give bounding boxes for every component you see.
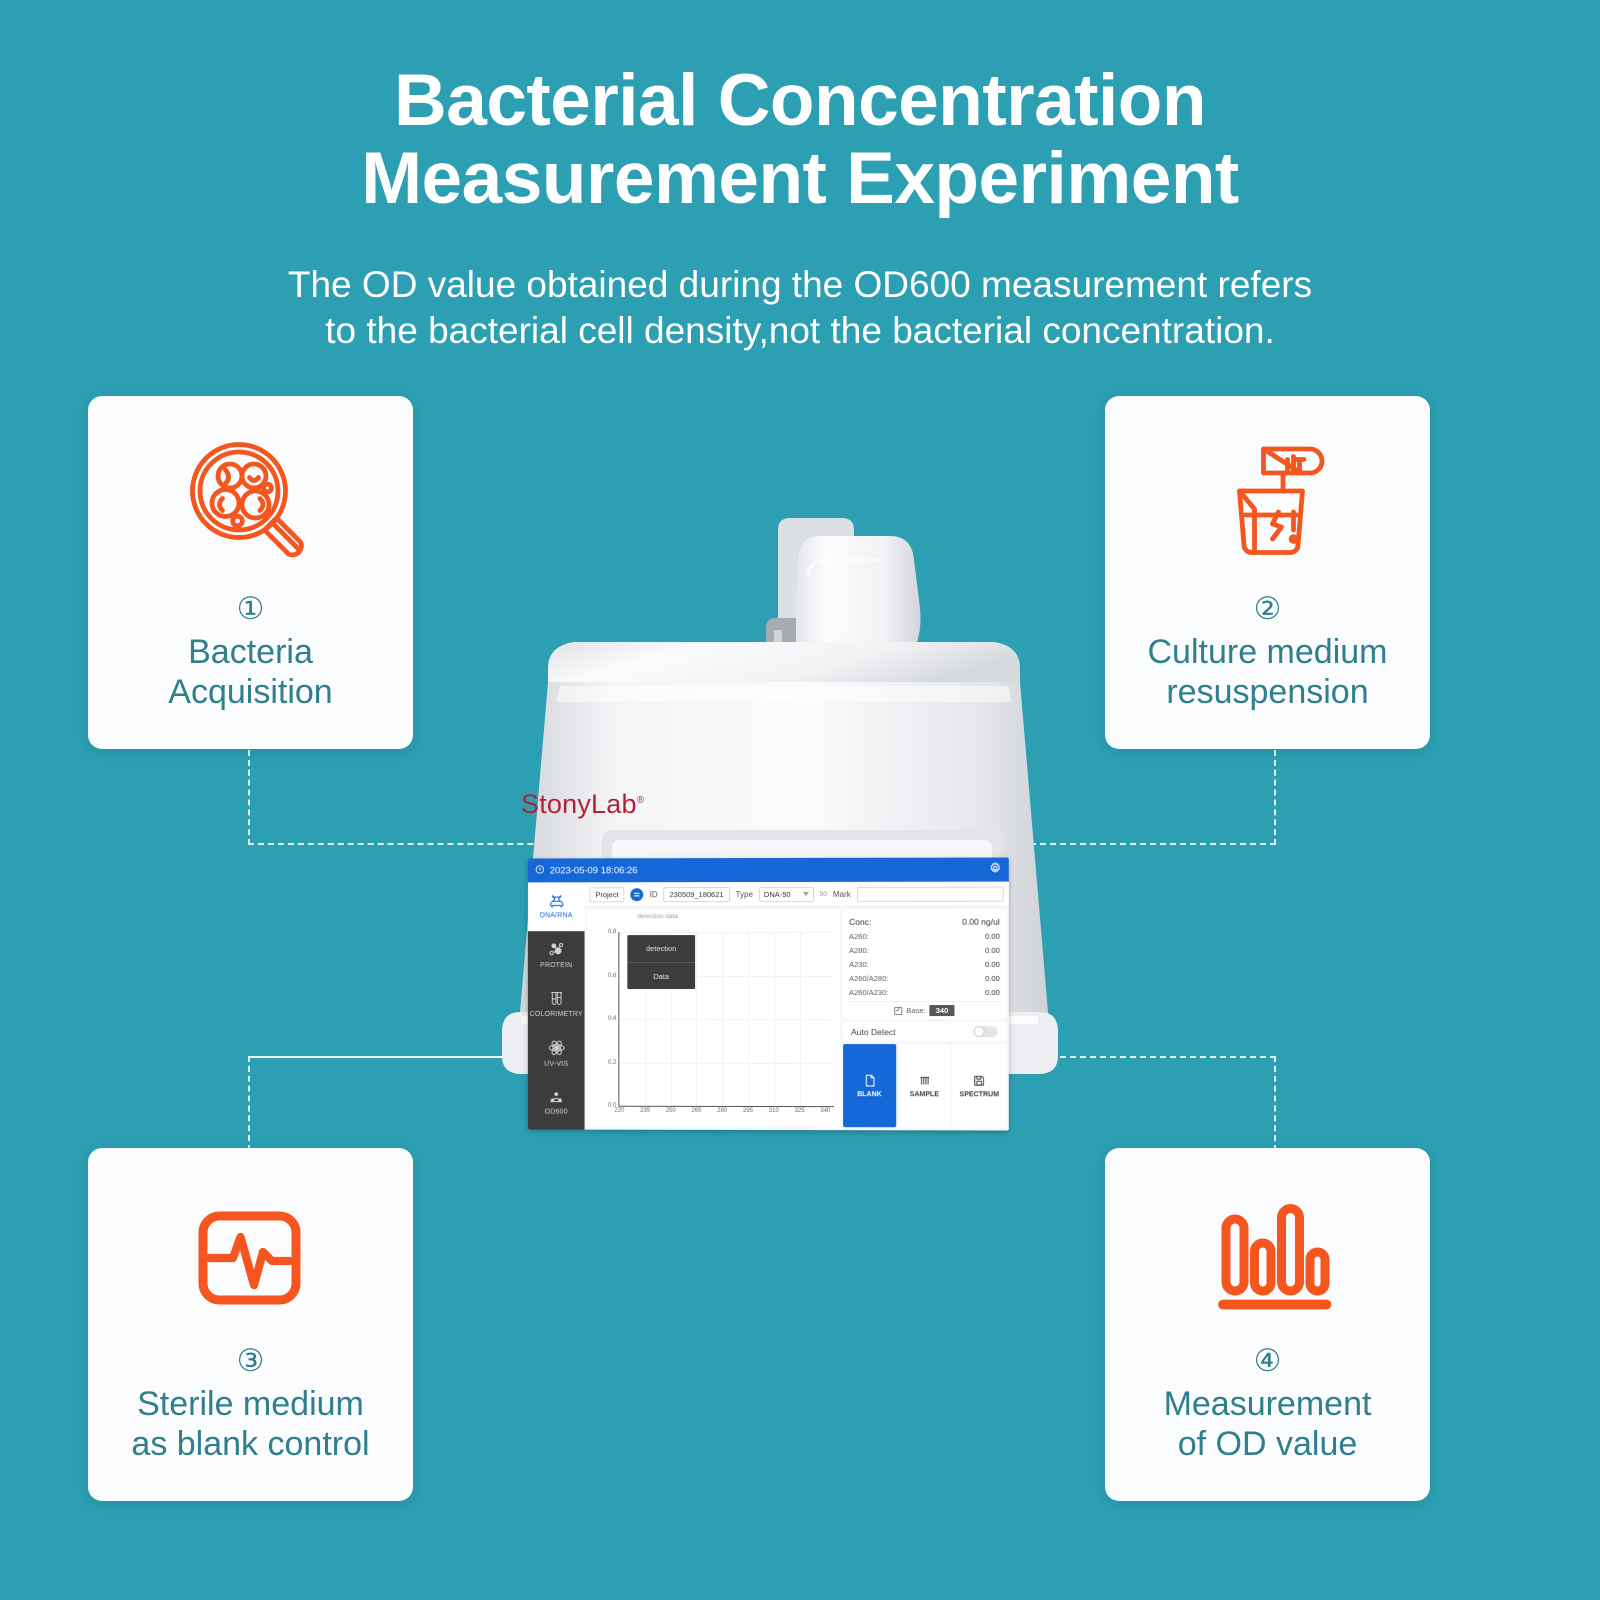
type-factor: 50 <box>820 890 827 897</box>
tab-data[interactable]: Data <box>627 962 695 989</box>
auto-detect-row[interactable]: Auto Detect <box>843 1022 1006 1041</box>
atom-icon <box>547 1039 565 1059</box>
screen-content: Project ID 230509_180621 Type DNA-50 50 … <box>585 882 1009 1131</box>
mark-input[interactable] <box>857 886 1004 901</box>
id-value-field[interactable]: 230509_180621 <box>664 887 730 902</box>
auto-detect-label: Auto Detect <box>851 1027 896 1037</box>
action-buttons[interactable]: BLANK SAMPLE <box>843 1044 1006 1127</box>
gear-icon[interactable] <box>989 862 1002 878</box>
result-label: A260/A280: <box>849 973 888 982</box>
step-label: Culture medium resuspension <box>1140 632 1396 712</box>
x-axis-tick: 280 <box>717 1108 727 1114</box>
y-axis-tick: 0.2 <box>608 1059 616 1065</box>
page-subtitle-line1: The OD value obtained during the OD600 m… <box>180 262 1420 308</box>
result-row: A280: 0.00 <box>849 943 1000 957</box>
screen-right-panel: Conc: 0.00 ng/ul A260: 0.00 A280: 0.00 <box>842 907 1009 1131</box>
molecule-icon <box>547 942 565 960</box>
screen-body: DNA/RNA PROTEIN <box>528 882 1009 1131</box>
grid-line <box>800 932 801 1106</box>
spectrum-chart[interactable]: detection data 0.8 0. <box>588 910 841 1127</box>
grid-line <box>722 932 723 1106</box>
grid-line <box>696 932 697 1106</box>
action-label: SPECTRUM <box>960 1091 1000 1098</box>
chart-tab-menu[interactable]: detection Data <box>627 935 695 989</box>
step-number: ② <box>1254 592 1282 626</box>
mark-label: Mark <box>833 889 851 898</box>
id-label: ID <box>650 890 658 899</box>
x-axis-tick: 265 <box>691 1108 701 1114</box>
result-label: Conc: <box>849 916 871 926</box>
cuvette-icon <box>918 1074 931 1089</box>
blank-button[interactable]: BLANK <box>843 1044 896 1127</box>
pipette-pouring-beaker-icon <box>1193 422 1343 590</box>
step-label: Bacteria Acquisition <box>160 632 340 712</box>
step-card-culture-medium-resuspension[interactable]: ② Culture medium resuspension <box>1105 396 1430 749</box>
step-card-bacteria-acquisition[interactable]: ① Bacteria Acquisition <box>88 396 413 749</box>
save-disk-icon <box>973 1074 986 1089</box>
sidebar-item-label: OD600 <box>545 1108 568 1115</box>
results-panel: Conc: 0.00 ng/ul A260: 0.00 A280: 0.00 <box>843 910 1006 1019</box>
result-label: A260/A230: <box>849 987 888 996</box>
result-label: A280: <box>849 945 869 954</box>
result-row: A260/A280: 0.00 <box>849 971 1000 985</box>
step-label-line1: Measurement <box>1164 1384 1372 1424</box>
action-label: BLANK <box>857 1091 882 1098</box>
sidebar-item-dna-rna[interactable]: DNA/RNA <box>528 882 585 931</box>
result-value: 0.00 <box>985 973 1000 982</box>
result-value: 0.00 <box>985 987 1000 996</box>
tab-detection[interactable]: detection <box>627 935 695 962</box>
x-axis-tick: 310 <box>769 1108 779 1114</box>
sidebar-item-label: COLORIMETRY <box>530 1011 583 1018</box>
result-label: A230: <box>849 959 869 968</box>
page-title: Bacterial Concentration Measurement Expe… <box>0 62 1600 218</box>
x-axis-tick: 250 <box>666 1108 676 1114</box>
baseline-checkbox[interactable]: ✓ <box>894 1007 902 1015</box>
chevron-down-icon <box>803 892 809 896</box>
x-axis-tick: 325 <box>795 1108 805 1114</box>
result-value: 0.00 <box>985 945 1000 954</box>
sidebar-item-protein[interactable]: PROTEIN <box>528 931 585 980</box>
brand-logo-text: StonyLab <box>521 789 637 819</box>
grid-line <box>619 1062 834 1063</box>
step-label: Sterile medium as blank control <box>123 1384 377 1464</box>
connector-card1-vertical <box>248 750 250 845</box>
result-value: 0.00 <box>985 959 1000 968</box>
result-row: A230: 0.00 <box>849 957 1000 971</box>
document-icon <box>863 1074 876 1089</box>
screen-sidebar[interactable]: DNA/RNA PROTEIN <box>528 882 585 1129</box>
brand-logo: StonyLab® <box>521 789 644 820</box>
step-label-line1: Sterile medium <box>131 1384 369 1424</box>
dna-helix-icon <box>547 894 565 910</box>
page-subtitle: The OD value obtained during the OD600 m… <box>180 262 1420 354</box>
x-axis-tick: 340 <box>820 1108 830 1114</box>
sidebar-item-colorimetry[interactable]: COLORIMETRY <box>528 980 585 1029</box>
topbar-spacer <box>642 870 983 871</box>
step-card-measurement-of-od-value[interactable]: ④ Measurement of OD value <box>1105 1148 1430 1501</box>
result-value: 0.00 <box>985 931 1000 940</box>
step-label-line2: of OD value <box>1164 1424 1372 1464</box>
sample-button[interactable]: SAMPLE <box>898 1044 951 1127</box>
project-field[interactable]: Project <box>590 887 625 902</box>
step-label-line1: Bacteria <box>168 632 332 672</box>
step-number: ① <box>237 592 265 626</box>
toggle-knob <box>975 1027 984 1036</box>
screen-toolbar[interactable]: Project ID 230509_180621 Type DNA-50 50 … <box>585 882 1009 908</box>
result-row: A260: 0.00 <box>849 929 1000 943</box>
action-label: SAMPLE <box>910 1091 939 1098</box>
chart-caption: detection data <box>588 910 841 920</box>
page-title-line2: Measurement Experiment <box>0 140 1600 218</box>
result-row: Conc: 0.00 ng/ul <box>849 914 1000 929</box>
result-value: 0.00 ng/ul <box>962 916 1000 926</box>
type-label: Type <box>736 890 753 899</box>
instrument-touchscreen[interactable]: 2023-05-09 18:06:26 DNA/RNA <box>528 858 1009 1131</box>
sidebar-item-label: DNA/RNA <box>540 912 573 919</box>
test-tubes-icon <box>548 991 564 1009</box>
clock-icon <box>535 864 545 877</box>
bacteria-dot-icon <box>548 1089 565 1106</box>
grid-line <box>619 932 834 933</box>
step-label-line2: as blank control <box>131 1424 369 1464</box>
step-number: ③ <box>237 1344 265 1378</box>
grid-line <box>774 932 775 1106</box>
type-select-value: DNA-50 <box>764 889 791 898</box>
x-axis-tick: 235 <box>640 1108 650 1114</box>
screen-topbar: 2023-05-09 18:06:26 <box>528 858 1009 883</box>
auto-detect-toggle[interactable] <box>974 1026 998 1037</box>
grid-line <box>748 932 749 1106</box>
step-label-line2: Acquisition <box>168 672 332 712</box>
y-axis-tick: 0.8 <box>608 929 616 935</box>
y-axis-tick: 0.4 <box>608 1016 616 1022</box>
step-label-line2: resuspension <box>1148 672 1388 712</box>
sidebar-item-uv-vis[interactable]: UV-VIS <box>528 1029 585 1078</box>
spectrum-button[interactable]: SPECTRUM <box>953 1044 1006 1127</box>
result-label: A260: <box>849 931 869 940</box>
petri-dish-magnifier-icon <box>176 422 326 590</box>
y-axis-tick: 0.6 <box>608 973 616 979</box>
screen-main-row: detection data 0.8 0. <box>585 907 1009 1131</box>
grid-line <box>619 1019 834 1020</box>
sidebar-item-od600[interactable]: OD600 <box>528 1078 585 1127</box>
baseline-row[interactable]: ✓ Base: 340 <box>849 1001 1000 1016</box>
add-circle-icon[interactable] <box>631 888 644 901</box>
registered-mark: ® <box>637 795 645 806</box>
connector-card4-vertical <box>1274 1056 1276 1151</box>
step-label-line1: Culture medium <box>1148 632 1388 672</box>
step-number: ④ <box>1254 1344 1282 1378</box>
type-select[interactable]: DNA-50 <box>759 886 814 901</box>
connector-card2-vertical <box>1274 750 1276 845</box>
x-axis-tick: 295 <box>743 1108 753 1114</box>
x-axis-tick: 220 <box>614 1108 624 1114</box>
step-card-sterile-medium-blank-control[interactable]: ③ Sterile medium as blank control <box>88 1148 413 1501</box>
page-subtitle-line2: to the bacterial cell density,not the ba… <box>180 308 1420 354</box>
step-label: Measurement of OD value <box>1156 1384 1380 1464</box>
bar-chart-icon <box>1193 1174 1343 1342</box>
sidebar-item-label: PROTEIN <box>540 962 572 969</box>
baseline-value[interactable]: 340 <box>930 1005 955 1016</box>
waveform-monitor-icon <box>176 1174 326 1342</box>
connector-card3-vertical <box>248 1056 250 1151</box>
timestamp: 2023-05-09 18:06:26 <box>550 865 638 876</box>
sidebar-item-label: UV-VIS <box>544 1061 568 1068</box>
page-title-line1: Bacterial Concentration <box>0 62 1600 140</box>
baseline-label: Base: <box>906 1006 925 1015</box>
result-row: A260/A230: 0.00 <box>849 985 1000 999</box>
